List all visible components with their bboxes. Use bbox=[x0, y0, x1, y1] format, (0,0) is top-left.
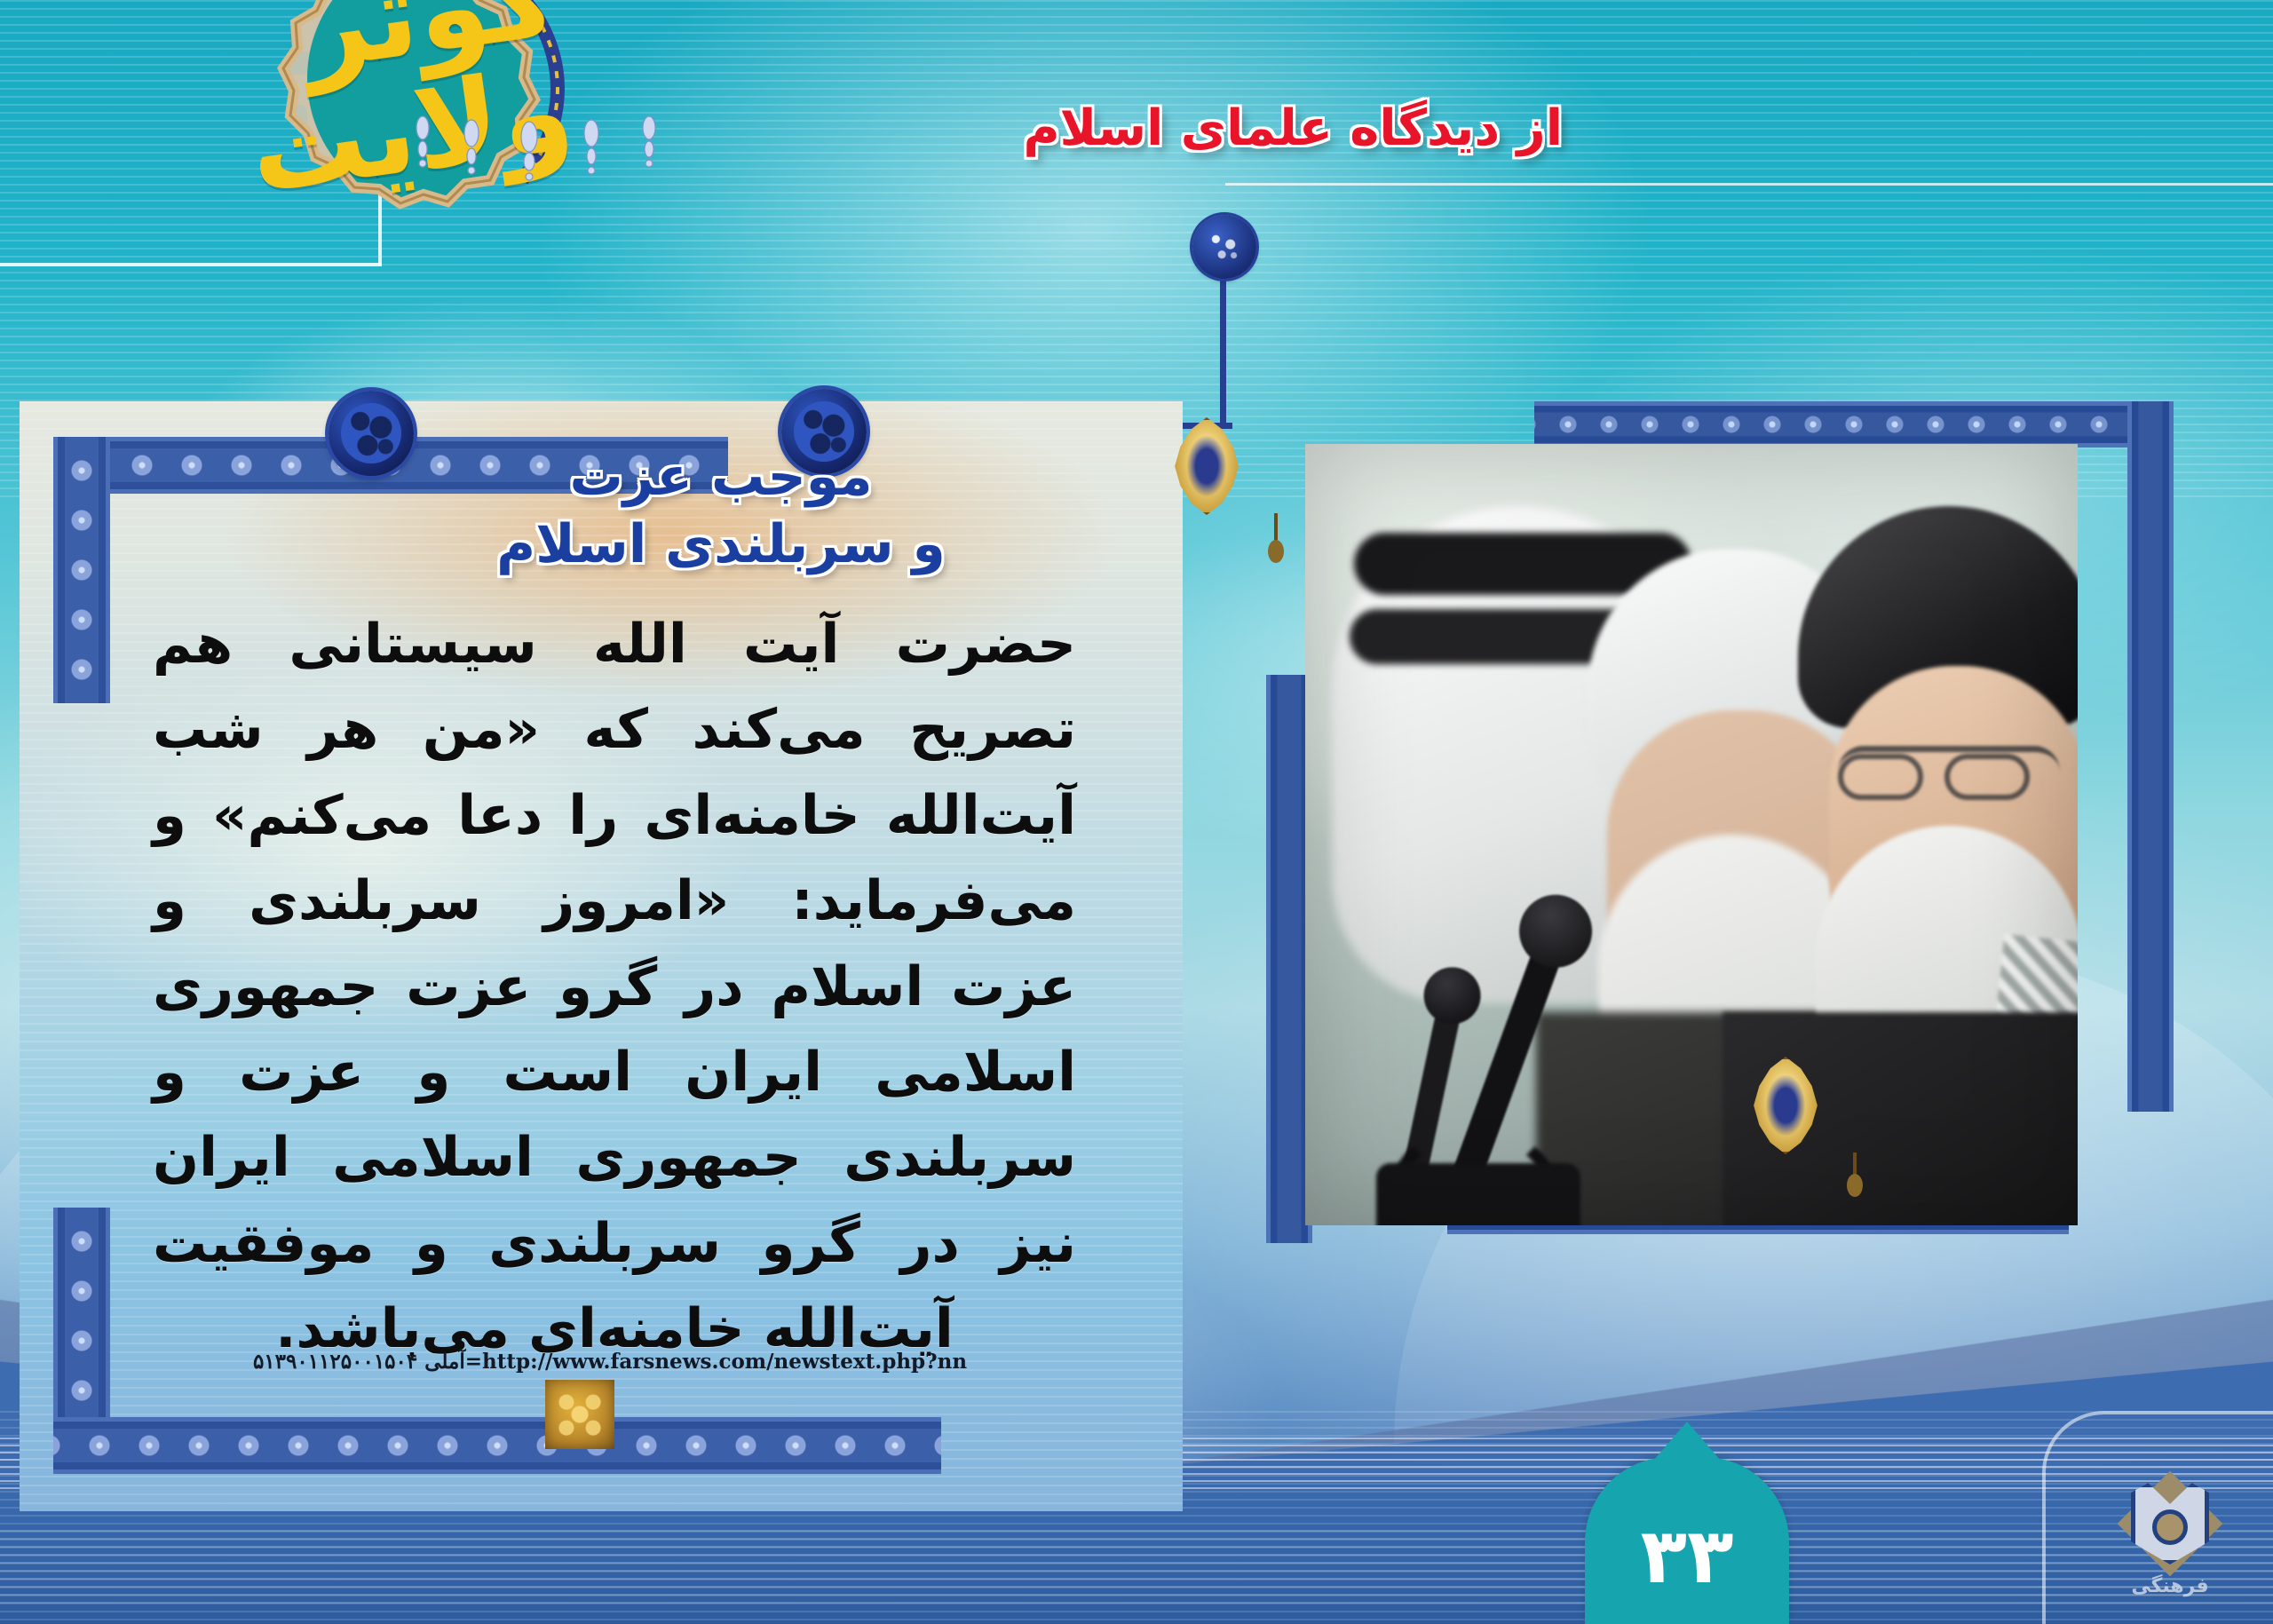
hairline-rule-left bbox=[0, 263, 382, 266]
connector-medallion-icon bbox=[1192, 215, 1256, 279]
page-number-badge: ۳۳ bbox=[1585, 1457, 1789, 1624]
article-title: موجب عزت و سربلندی اسلام bbox=[339, 444, 1103, 578]
publisher-script: فرهنگی bbox=[2131, 1575, 2208, 1597]
article-body: حضرت آیت الله سیستانی هم تصریح می‌کند که… bbox=[153, 602, 1076, 1372]
article-source: آملی ۵۱۳۹۰۱۱۲۵۰۰۱۵۰۴=http://www.farsnews… bbox=[162, 1350, 1058, 1374]
page-number: ۳۳ bbox=[1641, 1518, 1734, 1595]
photo-area bbox=[1208, 382, 2193, 1412]
photo-frame-right bbox=[2127, 401, 2174, 1112]
book-flower-logo-icon bbox=[2122, 1477, 2218, 1570]
poster-canvas: کوثر ولایت از دیدگاه علمای اسلام bbox=[0, 0, 2273, 1624]
series-label: از دیدگاه علمای اسلام bbox=[1023, 99, 1563, 157]
hairline-rule-top bbox=[1225, 183, 2273, 186]
publisher-logo[interactable]: فرهنگی bbox=[2108, 1464, 2232, 1597]
article-panel: موجب عزت و سربلندی اسلام حضرت آیت الله س… bbox=[20, 401, 1183, 1511]
frame-band-bottom bbox=[53, 1417, 941, 1474]
photo-vignette bbox=[1305, 444, 2078, 1225]
connector-rule bbox=[897, 238, 1239, 429]
article-photo bbox=[1305, 444, 2078, 1225]
logo-bead-fringe-icon bbox=[396, 114, 689, 185]
article-title-line-1: موجب عزت bbox=[339, 444, 1103, 511]
article-title-line-2: و سربلندی اسلام bbox=[339, 511, 1103, 579]
frame-band-left-upper bbox=[53, 437, 110, 703]
gold-square-ornament-icon bbox=[545, 1380, 614, 1449]
masthead-logo[interactable]: کوثر ولایت bbox=[174, 0, 565, 211]
photo-frame-top bbox=[1534, 401, 2174, 448]
